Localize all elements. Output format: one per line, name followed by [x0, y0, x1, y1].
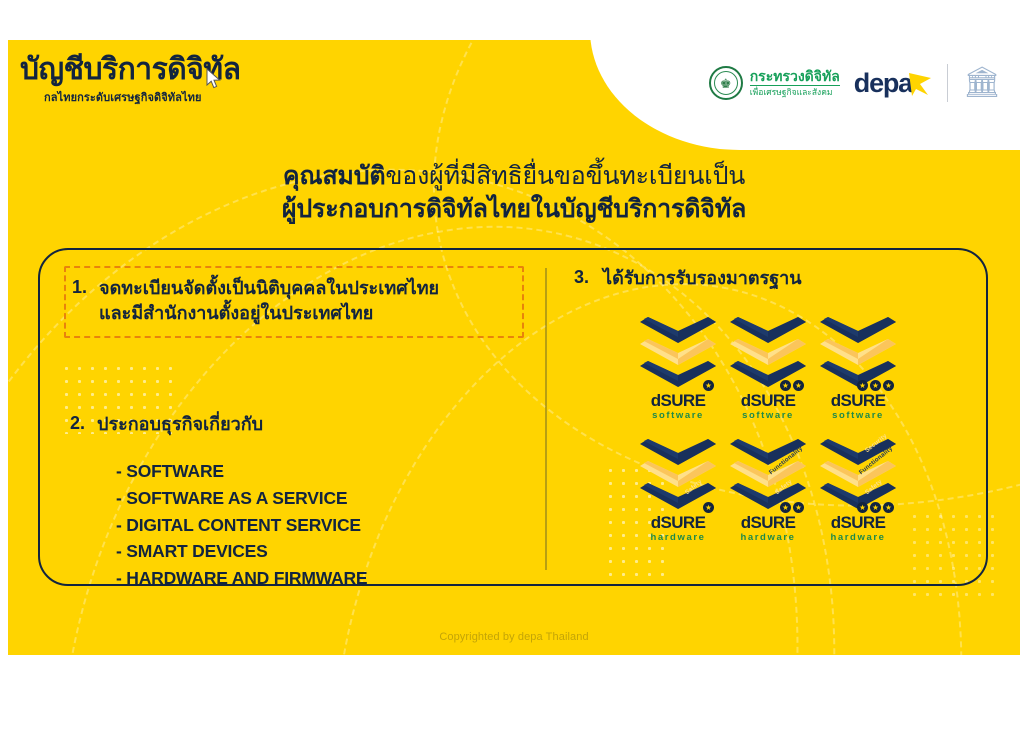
badge-name: dSURE — [820, 392, 896, 409]
item-2-number: 2. — [70, 412, 85, 437]
star-icon: ★ — [703, 502, 714, 513]
badge-name: dSURE — [640, 514, 716, 531]
ministry-seal-icon: ♚ — [709, 66, 743, 100]
item-1-number: 1. — [72, 276, 87, 326]
left-column: 1. จดทะเบียนจัดตั้งเป็นนิติบุคคลในประเทศ… — [64, 266, 524, 591]
requirement-item-2: 2. ประกอบธุรกิจเกี่ยวกับ — [64, 412, 524, 437]
badge-kind: hardware — [730, 532, 806, 543]
item-3-number: 3. — [574, 266, 589, 291]
title-line-2: ผู้ประกอบการดิจิทัลไทยในบัญชีบริการดิจิท… — [8, 193, 1020, 226]
item-1-line-1: จดทะเบียนจัดตั้งเป็นนิติบุคคลในประเทศไทย — [99, 276, 439, 301]
dsure-chevron-mark: ★★ — [730, 317, 806, 389]
dsure-chevron-mark: SecurityFunctionalitySafety★★★ — [820, 439, 896, 511]
dsure-chevron-mark: Safety★ — [640, 439, 716, 511]
badge-name: dSURE — [730, 392, 806, 409]
logo-divider — [947, 64, 948, 102]
badge-kind: software — [820, 410, 896, 421]
badge-name: dSURE — [640, 392, 716, 409]
badge-kind: software — [640, 410, 716, 421]
star-icon: ★ — [883, 502, 894, 513]
star-icon: ★ — [870, 380, 881, 391]
item-1-text: จดทะเบียนจัดตั้งเป็นนิติบุคคลในประเทศไทย… — [99, 276, 439, 326]
item-2-heading: ประกอบธุรกิจเกี่ยวกับ — [97, 412, 263, 437]
business-category-list: - SOFTWARE - SOFTWARE AS A SERVICE - DIG… — [64, 458, 524, 591]
dsure-badge-grid: ★dSUREsoftware★★dSUREsoftware★★★dSUREsof… — [640, 317, 965, 544]
badge-star-rating: ★★ — [780, 380, 804, 391]
dsure-chevron-mark: ★ — [640, 317, 716, 389]
item-1-line-2: และมีสำนักงานตั้งอยู่ในประเทศไทย — [99, 301, 439, 326]
garuda-emblem-icon: 🏛 — [962, 62, 1002, 104]
partner-logos: ♚ กระทรวงดิจิทัล เพื่อเศรษฐกิจและสังคม d… — [709, 62, 1002, 104]
dsure-badge-software-3star[interactable]: ★★★dSUREsoftware — [820, 317, 896, 421]
slide-canvas: บัญชีบริการดิจิทัล กลไทยกระดับเศรษฐกิจดิ… — [8, 40, 1020, 655]
slide-header: บัญชีบริการดิจิทัล กลไทยกระดับเศรษฐกิจดิ… — [8, 40, 1020, 150]
ministry-seal-inner: ♚ — [714, 71, 738, 95]
depa-logo: depa — [854, 68, 933, 99]
ministry-name-line2: เพื่อเศรษฐกิจและสังคม — [750, 88, 840, 98]
star-icon: ★ — [780, 502, 791, 513]
list-item: - DIGITAL CONTENT SERVICE — [116, 512, 524, 539]
dsure-badge-hardware-2star[interactable]: FunctionalitySafety★★dSUREhardware — [730, 439, 806, 543]
brand-logo: บัญชีบริการดิจิทัล กลไทยกระดับเศรษฐกิจดิ… — [20, 54, 350, 106]
mouse-cursor-icon — [206, 68, 222, 90]
dsure-badge-hardware-3star[interactable]: SecurityFunctionalitySafety★★★dSUREhardw… — [820, 439, 896, 543]
title-bold-part: คุณสมบัติ — [283, 162, 386, 190]
dsure-badge-software-2star[interactable]: ★★dSUREsoftware — [730, 317, 806, 421]
dsure-badge-hardware-1star[interactable]: Safety★dSUREhardware — [640, 439, 716, 543]
footer-copyright: Copyrighted by depa Thailand — [8, 631, 1020, 643]
badge-kind: hardware — [640, 532, 716, 543]
badge-star-rating: ★ — [703, 380, 714, 391]
requirement-item-1: 1. จดทะเบียนจัดตั้งเป็นนิติบุคคลในประเทศ… — [64, 266, 524, 338]
ministry-name-line1: กระทรวงดิจิทัล — [750, 69, 840, 87]
star-icon: ★ — [703, 380, 714, 391]
star-icon: ★ — [883, 380, 894, 391]
content-panel: 1. จดทะเบียนจัดตั้งเป็นนิติบุคคลในประเทศ… — [38, 248, 988, 586]
dsure-chevron-mark: FunctionalitySafety★★ — [730, 439, 806, 511]
badge-kind: hardware — [820, 532, 896, 543]
dsure-badge-software-1star[interactable]: ★dSUREsoftware — [640, 317, 716, 421]
star-icon: ★ — [870, 502, 881, 513]
list-item: - HARDWARE AND FIRMWARE — [116, 565, 524, 592]
star-icon: ★ — [857, 380, 868, 391]
depa-wordmark: depa — [854, 70, 912, 97]
badge-name: dSURE — [820, 514, 896, 531]
badge-star-rating: ★★★ — [857, 502, 894, 513]
list-item: - SMART DEVICES — [116, 538, 524, 565]
right-column: 3. ได้รับการรับรองมาตรฐาน ★dSUREsoftware… — [570, 266, 965, 544]
star-icon: ★ — [793, 380, 804, 391]
badge-star-rating: ★★ — [780, 502, 804, 513]
badge-name: dSURE — [730, 514, 806, 531]
list-item: - SOFTWARE AS A SERVICE — [116, 485, 524, 512]
requirement-item-3: 3. ได้รับการรับรองมาตรฐาน — [570, 266, 965, 291]
star-icon: ★ — [857, 502, 868, 513]
badge-kind: software — [730, 410, 806, 421]
star-icon: ★ — [780, 380, 791, 391]
brand-subtitle: กลไทยกระดับเศรษฐกิจดิจิทัลไทย — [44, 88, 350, 106]
item-3-heading: ได้รับการรับรองมาตรฐาน — [603, 266, 802, 291]
page-title: คุณสมบัติของผู้ที่มีสิทธิยื่นขอขึ้นทะเบี… — [8, 160, 1020, 226]
title-light-part: ของผู้ที่มีสิทธิยื่นขอขึ้นทะเบียนเป็น — [385, 162, 745, 190]
title-line-1: คุณสมบัติของผู้ที่มีสิทธิยื่นขอขึ้นทะเบี… — [8, 160, 1020, 193]
column-divider — [545, 268, 547, 570]
star-icon: ★ — [793, 502, 804, 513]
dsure-chevron-mark: ★★★ — [820, 317, 896, 389]
ministry-logo: ♚ กระทรวงดิจิทัล เพื่อเศรษฐกิจและสังคม — [709, 66, 840, 100]
badge-star-rating: ★★★ — [857, 380, 894, 391]
badge-star-rating: ★ — [703, 502, 714, 513]
brand-title: บัญชีบริการดิจิทัล — [20, 54, 350, 86]
depa-arrow-icon — [907, 71, 933, 99]
list-item: - SOFTWARE — [116, 458, 524, 485]
